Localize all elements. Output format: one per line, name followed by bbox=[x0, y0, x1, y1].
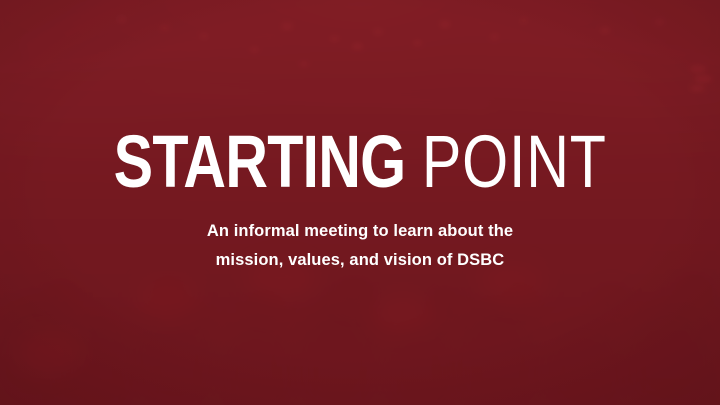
title-separator bbox=[405, 120, 421, 203]
title-emphasis-word: STARTING bbox=[113, 120, 405, 203]
subtitle-line-1: An informal meeting to learn about the bbox=[207, 217, 513, 245]
title-light-word: POINT bbox=[422, 120, 607, 203]
slide-content: STARTING POINT An informal meeting to le… bbox=[0, 0, 720, 405]
subtitle-line-2: mission, values, and vision of DSBC bbox=[207, 246, 513, 274]
page-title: STARTING POINT bbox=[113, 131, 606, 193]
title-slide: STARTING POINT An informal meeting to le… bbox=[0, 0, 720, 405]
page-subtitle: An informal meeting to learn about the m… bbox=[207, 193, 513, 274]
